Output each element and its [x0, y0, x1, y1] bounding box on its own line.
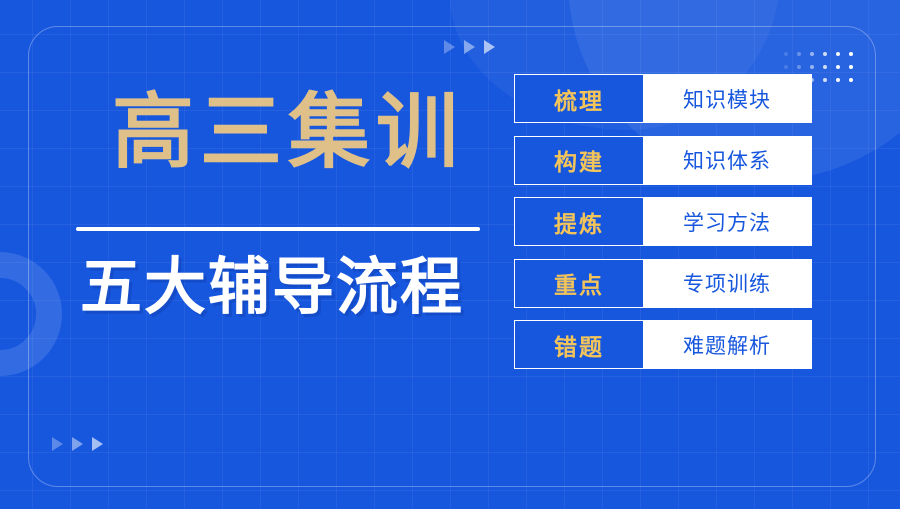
arrow-decoration-top: [444, 40, 495, 54]
list-item-tag: 构建: [515, 137, 643, 184]
title-divider: [76, 227, 480, 231]
triangle-arrow-icon: [72, 437, 83, 451]
list-item-value: 学习方法: [643, 198, 811, 245]
triangle-arrow-icon: [52, 437, 63, 451]
list-item[interactable]: 重点 专项训练: [514, 259, 812, 308]
triangle-arrow-icon: [92, 437, 103, 451]
list-item-value: 知识体系: [643, 137, 811, 184]
list-item[interactable]: 错题 难题解析: [514, 320, 812, 369]
list-item-value: 难题解析: [643, 321, 811, 368]
list-item-tag: 提炼: [515, 198, 643, 245]
main-title: 高三集训: [112, 92, 496, 174]
headline-block: 高三集训 五大辅导流程: [76, 92, 496, 319]
list-item-value: 专项训练: [643, 260, 811, 307]
list-item[interactable]: 构建 知识体系: [514, 136, 812, 185]
triangle-arrow-icon: [464, 40, 475, 54]
process-list: 梳理 知识模块 构建 知识体系 提炼 学习方法 重点 专项训练 错题 难题解析: [514, 74, 812, 369]
triangle-arrow-icon: [484, 40, 495, 54]
list-item[interactable]: 提炼 学习方法: [514, 197, 812, 246]
list-item-tag: 错题: [515, 321, 643, 368]
list-item-tag: 梳理: [515, 75, 643, 122]
sub-title: 五大辅导流程: [80, 257, 496, 319]
list-item-tag: 重点: [515, 260, 643, 307]
arrow-decoration-bottom: [52, 437, 103, 451]
triangle-arrow-icon: [444, 40, 455, 54]
list-item-value: 知识模块: [643, 75, 811, 122]
list-item[interactable]: 梳理 知识模块: [514, 74, 812, 123]
poster-canvas: 高三集训 五大辅导流程 梳理 知识模块 构建 知识体系 提炼 学习方法 重点 专…: [0, 0, 900, 509]
